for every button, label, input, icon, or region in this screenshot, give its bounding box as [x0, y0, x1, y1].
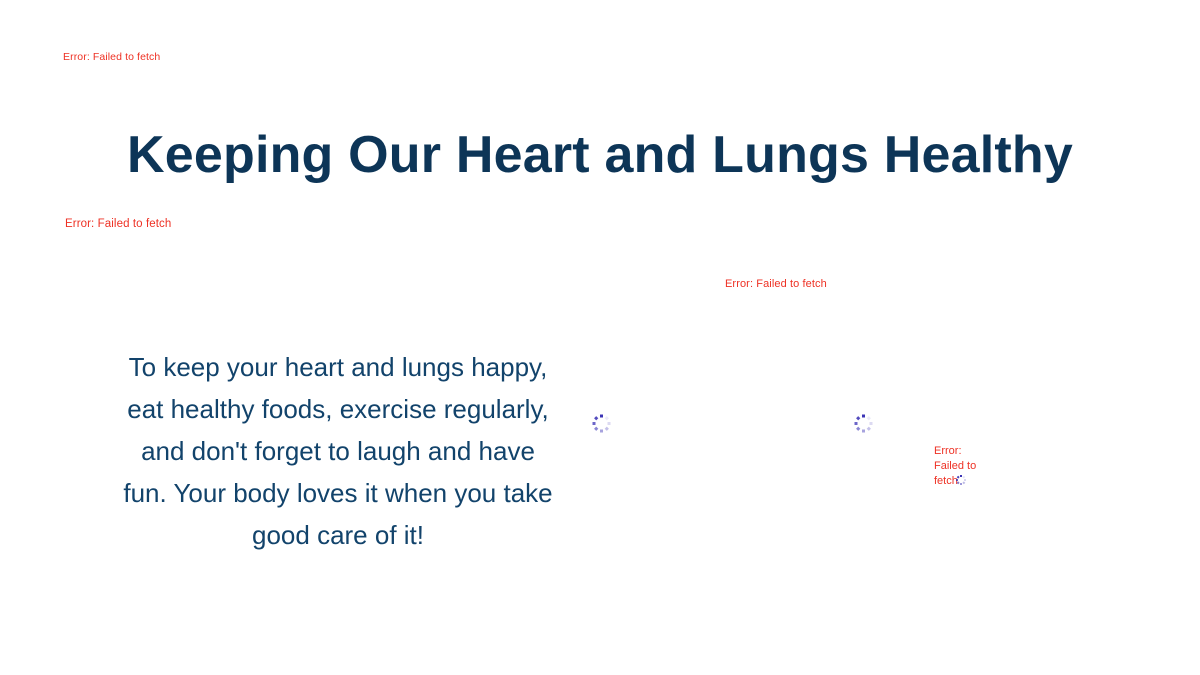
slide-canvas: Error: Failed to fetch Keeping Our Heart…	[0, 0, 1200, 675]
loading-spinner-icon	[853, 413, 873, 433]
error-message-center: Error: Failed to fetch	[725, 278, 827, 291]
page-title: Keeping Our Heart and Lungs Healthy	[0, 127, 1200, 184]
error-message-top-left: Error: Failed to fetch	[63, 51, 160, 64]
loading-spinner-icon	[955, 474, 966, 485]
loading-spinner-icon	[591, 413, 611, 433]
error-message-mid-left: Error: Failed to fetch	[65, 218, 171, 232]
body-paragraph: To keep your heart and lungs happy, eat …	[118, 346, 558, 556]
